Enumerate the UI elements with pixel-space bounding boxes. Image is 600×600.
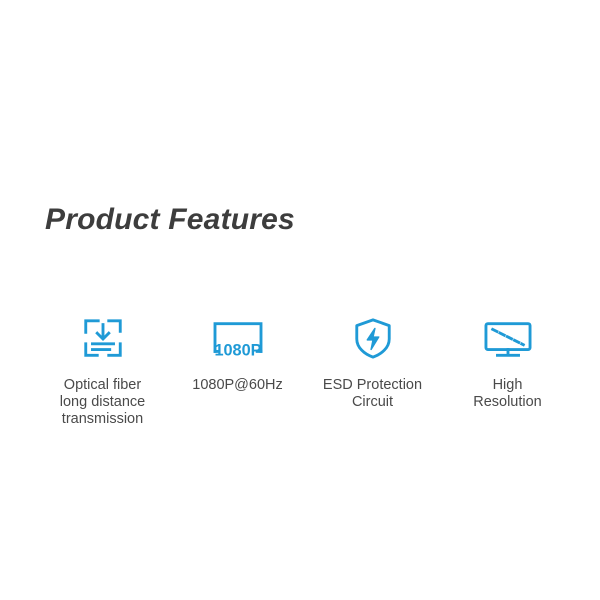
feature-label: ESD Protection Circuit [323, 377, 422, 411]
feature-label: Optical fiber long distance transmission [60, 377, 145, 428]
page-title: Product Features [45, 203, 295, 237]
feature-label: 1080P@60Hz [192, 377, 283, 394]
feature-item-optical-fiber: Optical fiber long distance transmission [35, 312, 170, 428]
feature-label: High Resolution [473, 377, 542, 411]
feature-list: Optical fiber long distance transmission… [35, 312, 575, 428]
shield-lightning-esd-icon [352, 312, 394, 364]
feature-item-1080p: 1080P 1080P@60Hz [170, 312, 305, 394]
1080p-screen-icon: 1080P [207, 312, 269, 364]
1080p-icon-text: 1080P [214, 341, 261, 359]
optical-fiber-transmission-icon [80, 312, 126, 364]
monitor-diagonal-icon [480, 312, 536, 364]
feature-item-high-resolution: High Resolution [440, 312, 575, 411]
feature-item-esd-protection: ESD Protection Circuit [305, 312, 440, 411]
product-features-banner: Product Features [0, 0, 600, 600]
